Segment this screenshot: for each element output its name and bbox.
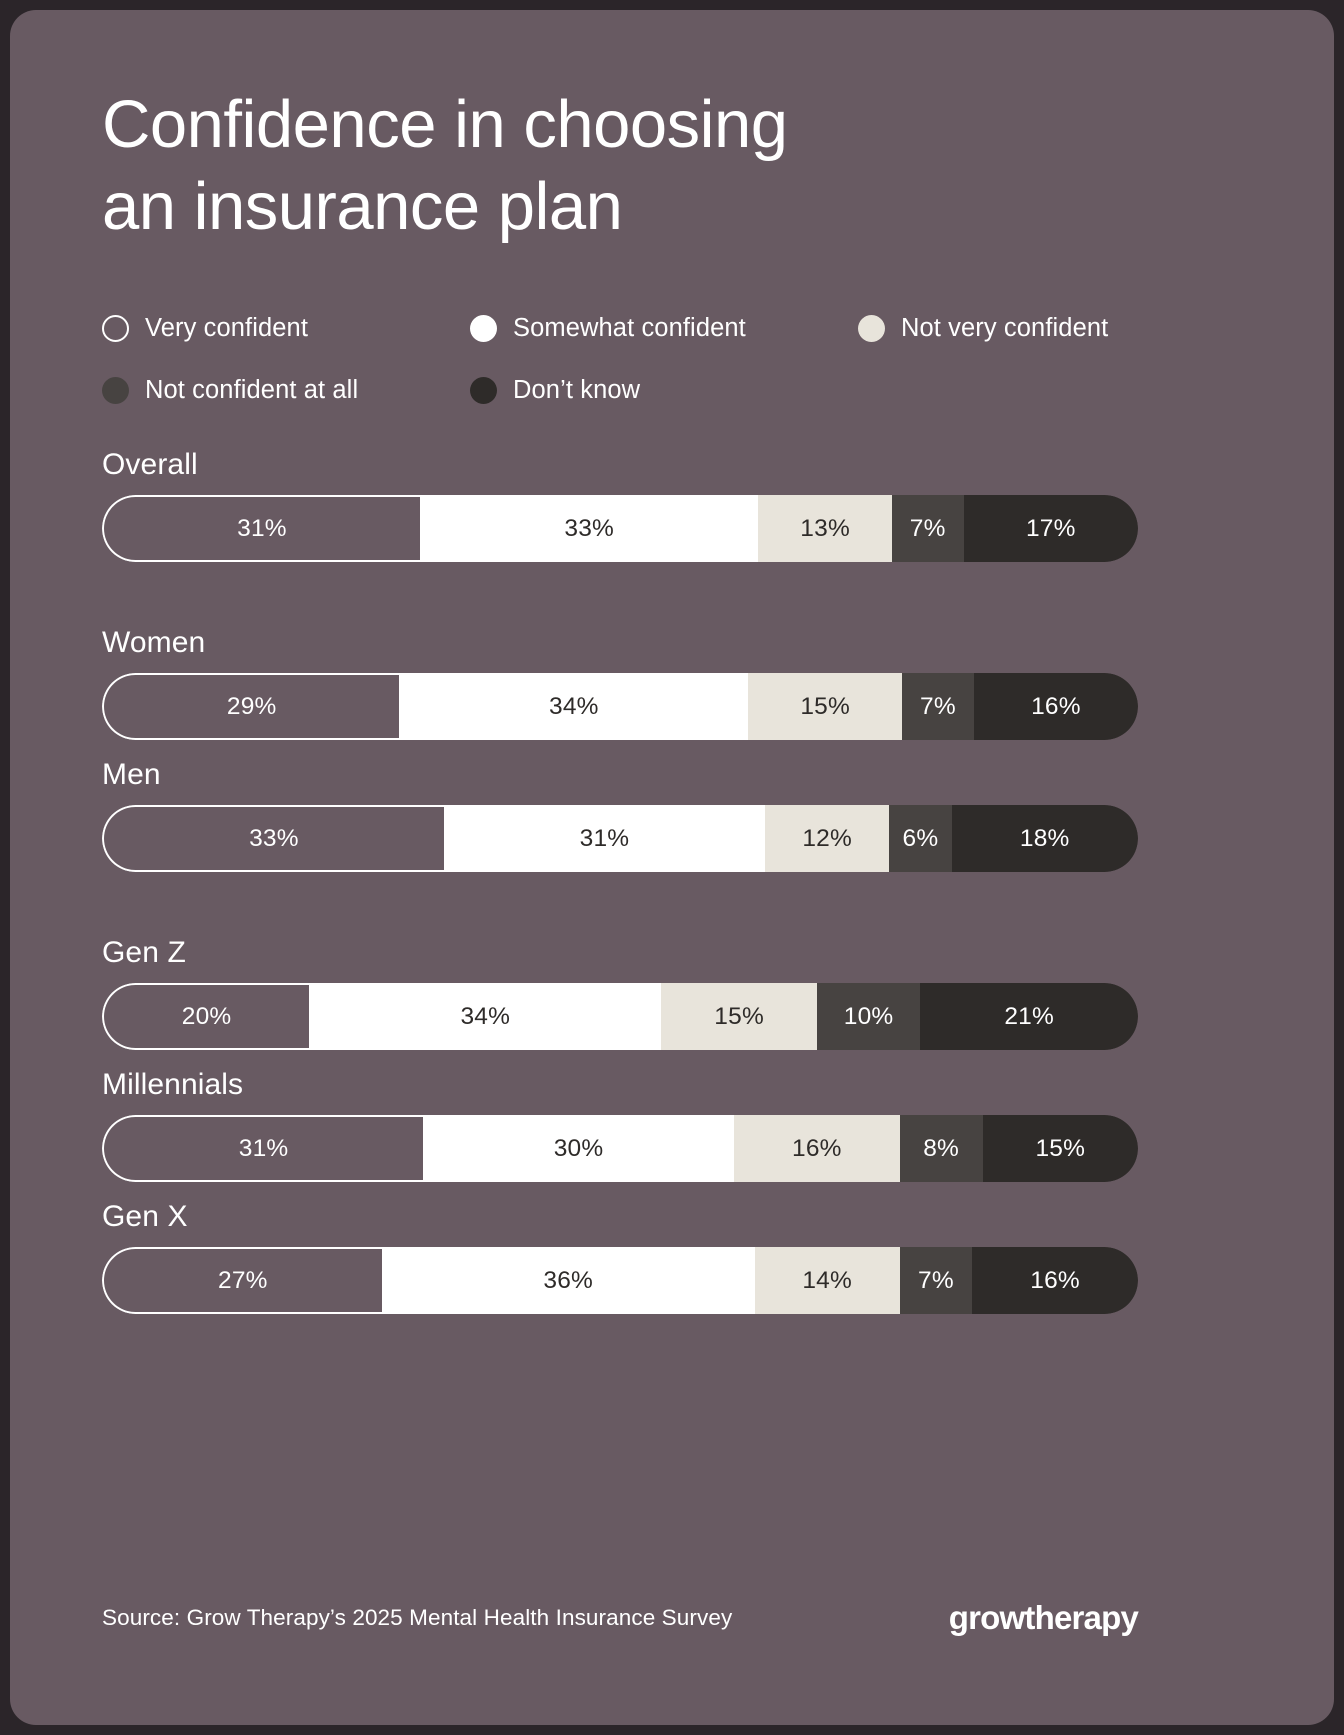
bar-segment-value: 16%: [792, 1135, 842, 1163]
bar-block: Gen X27%36%14%7%16%: [102, 1200, 1138, 1314]
legend-dot-icon: [470, 315, 497, 342]
bar-segment[interactable]: 34%: [399, 673, 748, 740]
bar-category-label: Millennials: [102, 1068, 1138, 1102]
bar-segment[interactable]: 10%: [817, 983, 921, 1050]
bar-segment[interactable]: 7%: [892, 495, 964, 562]
legend-item-label: Don’t know: [513, 376, 640, 405]
bar-segment-value: 27%: [218, 1267, 268, 1295]
legend-item-not-confident-at-all[interactable]: Not confident at all: [102, 376, 470, 405]
legend-row: Very confidentSomewhat confidentNot very…: [102, 306, 1142, 350]
bar-category-label: Overall: [102, 448, 1138, 482]
bar-segment[interactable]: 31%: [102, 495, 420, 562]
bar-segment-value: 15%: [714, 1003, 764, 1031]
content-column: Confidence in choosing an insurance plan…: [102, 10, 1138, 1725]
bar-segment[interactable]: 15%: [748, 673, 902, 740]
bar-segment-value: 16%: [1031, 693, 1081, 721]
legend-row: Not confident at allDon’t know: [102, 368, 1142, 412]
bar-segment[interactable]: 20%: [102, 983, 309, 1050]
bar-segment-value: 10%: [844, 1003, 894, 1031]
page-title: Confidence in choosing an insurance plan: [102, 84, 1102, 247]
bar-segment-value: 12%: [802, 825, 852, 853]
bar-segment[interactable]: 16%: [972, 1247, 1138, 1314]
legend-dot-icon: [470, 377, 497, 404]
legend: Very confidentSomewhat confidentNot very…: [102, 306, 1142, 430]
bar-group-generation: Gen Z20%34%15%10%21%Millennials31%30%16%…: [102, 936, 1138, 1314]
bar-segment[interactable]: 36%: [382, 1247, 755, 1314]
bar-segment-value: 15%: [800, 693, 850, 721]
legend-dot-icon: [102, 315, 129, 342]
bar-segment-value: 36%: [543, 1267, 593, 1295]
bar-segment-value: 15%: [1035, 1135, 1085, 1163]
bar-segment-value: 16%: [1030, 1267, 1080, 1295]
stacked-bar: 20%34%15%10%21%: [102, 983, 1138, 1050]
bar-segment[interactable]: 16%: [974, 673, 1138, 740]
bar-segment-value: 7%: [910, 515, 946, 543]
bar-segment[interactable]: 7%: [902, 673, 974, 740]
legend-dot-icon: [858, 315, 885, 342]
growtherapy-logo: growtherapy: [949, 1599, 1138, 1637]
bar-segment-value: 34%: [460, 1003, 510, 1031]
bar-block: Women29%34%15%7%16%: [102, 626, 1138, 740]
bar-segment-value: 34%: [549, 693, 599, 721]
bar-category-label: Men: [102, 758, 1138, 792]
bar-segment-value: 17%: [1026, 515, 1076, 543]
bar-segment[interactable]: 21%: [920, 983, 1138, 1050]
legend-dot-icon: [102, 377, 129, 404]
source-note: Source: Grow Therapy’s 2025 Mental Healt…: [102, 1605, 732, 1631]
bar-category-label: Gen Z: [102, 936, 1138, 970]
bar-segment[interactable]: 8%: [900, 1115, 983, 1182]
bar-segment[interactable]: 13%: [758, 495, 891, 562]
legend-item-label: Not very confident: [901, 314, 1108, 343]
bar-segment[interactable]: 12%: [765, 805, 889, 872]
bar-segment-value: 20%: [182, 1003, 232, 1031]
bar-segment[interactable]: 14%: [755, 1247, 900, 1314]
bar-block: Millennials31%30%16%8%15%: [102, 1068, 1138, 1182]
bar-segment[interactable]: 18%: [952, 805, 1138, 872]
bar-group-total: Overall31%33%13%7%17%: [102, 448, 1138, 562]
bar-segment[interactable]: 17%: [964, 495, 1138, 562]
bar-segment-value: 29%: [227, 693, 277, 721]
bar-segment[interactable]: 33%: [102, 805, 444, 872]
bar-segment[interactable]: 15%: [983, 1115, 1138, 1182]
bar-segment-value: 31%: [580, 825, 630, 853]
legend-item-not-very-confident[interactable]: Not very confident: [858, 314, 1138, 343]
bar-segment[interactable]: 30%: [423, 1115, 734, 1182]
bar-segment-value: 13%: [800, 515, 850, 543]
legend-item-label: Not confident at all: [145, 376, 358, 405]
bar-segment[interactable]: 29%: [102, 673, 399, 740]
bar-segment-value: 33%: [564, 515, 614, 543]
legend-item-label: Very confident: [145, 314, 308, 343]
bar-segment[interactable]: 16%: [734, 1115, 900, 1182]
bar-segment-value: 8%: [923, 1135, 959, 1163]
legend-item-very-confident[interactable]: Very confident: [102, 314, 470, 343]
bar-segment-value: 33%: [249, 825, 299, 853]
bar-category-label: Gen X: [102, 1200, 1138, 1234]
bar-segment-value: 31%: [237, 515, 287, 543]
bar-category-label: Women: [102, 626, 1138, 660]
bar-segment[interactable]: 27%: [102, 1247, 382, 1314]
bar-segment[interactable]: 31%: [102, 1115, 423, 1182]
bar-segment[interactable]: 31%: [444, 805, 765, 872]
bar-segment[interactable]: 33%: [420, 495, 758, 562]
bar-segment-value: 7%: [918, 1267, 954, 1295]
bar-segment-value: 31%: [239, 1135, 289, 1163]
bar-group-gender: Women29%34%15%7%16%Men33%31%12%6%18%: [102, 626, 1138, 872]
legend-item-don-t-know[interactable]: Don’t know: [470, 376, 858, 405]
stacked-bar: 29%34%15%7%16%: [102, 673, 1138, 740]
bar-block: Overall31%33%13%7%17%: [102, 448, 1138, 562]
infographic-card: Confidence in choosing an insurance plan…: [10, 10, 1334, 1725]
stacked-bar: 31%30%16%8%15%: [102, 1115, 1138, 1182]
bar-segment-value: 14%: [802, 1267, 852, 1295]
footer: Source: Grow Therapy’s 2025 Mental Healt…: [102, 1599, 1138, 1637]
bar-segment-value: 18%: [1020, 825, 1070, 853]
bar-segment-value: 7%: [920, 693, 956, 721]
bar-block: Gen Z20%34%15%10%21%: [102, 936, 1138, 1050]
bar-segment[interactable]: 6%: [889, 805, 951, 872]
bar-segment[interactable]: 15%: [661, 983, 816, 1050]
bar-block: Men33%31%12%6%18%: [102, 758, 1138, 872]
stacked-bar: 31%33%13%7%17%: [102, 495, 1138, 562]
bar-chart: Overall31%33%13%7%17%Women29%34%15%7%16%…: [102, 448, 1138, 1314]
bar-segment-value: 30%: [554, 1135, 604, 1163]
legend-item-somewhat-confident[interactable]: Somewhat confident: [470, 314, 858, 343]
bar-segment-value: 21%: [1004, 1003, 1054, 1031]
legend-item-label: Somewhat confident: [513, 314, 746, 343]
bar-segment[interactable]: 34%: [309, 983, 661, 1050]
stacked-bar: 27%36%14%7%16%: [102, 1247, 1138, 1314]
bar-segment-value: 6%: [903, 825, 939, 853]
stacked-bar: 33%31%12%6%18%: [102, 805, 1138, 872]
bar-segment[interactable]: 7%: [900, 1247, 973, 1314]
